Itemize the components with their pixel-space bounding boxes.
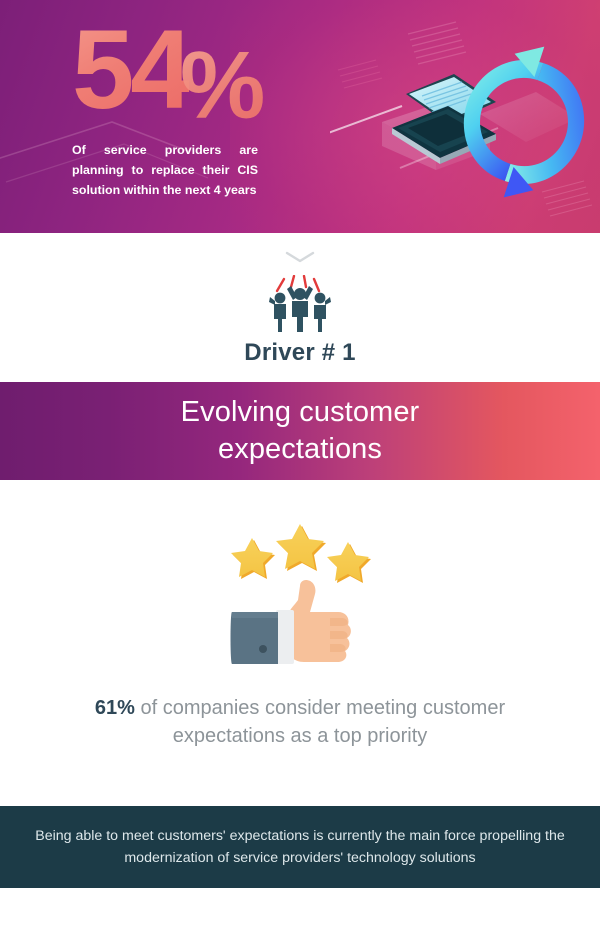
hero-number-value: 54 (72, 14, 189, 126)
stat-text: of companies consider meeting customer e… (135, 697, 505, 747)
driver-section: Driver # 1 (0, 233, 600, 382)
driver-label: Driver # 1 (0, 339, 600, 367)
footer-text: Being able to meet customers' expectatio… (34, 825, 566, 869)
star-2 (276, 524, 326, 571)
star-3 (327, 542, 371, 583)
bottom-whitespace (0, 888, 600, 942)
section-banner: Evolving customer expectations (0, 382, 600, 480)
hero-percent-symbol: % (180, 38, 265, 134)
cheering-people-icon (257, 275, 343, 333)
thumbs-up-hand (231, 580, 351, 664)
star-1 (231, 538, 275, 579)
stat-statement: 61% of companies consider meeting custom… (60, 694, 540, 751)
stat-percentage: 61% (95, 697, 135, 719)
hero-statistic: 54 % (72, 18, 272, 130)
footer-note: Being able to meet customers' expectatio… (0, 806, 600, 888)
banner-title: Evolving customer expectations (100, 394, 500, 468)
chevron-down-icon (285, 250, 315, 264)
thumbs-up-stars-icon (220, 518, 380, 666)
hero-description: Of service providers are planning to rep… (72, 140, 258, 200)
hero-big-number: 54 % (72, 18, 272, 130)
hero-banner: 54 % Of service providers are planning t… (0, 0, 600, 233)
stats-section: 61% of companies consider meeting custom… (0, 480, 600, 806)
hero-illustration (330, 18, 592, 230)
